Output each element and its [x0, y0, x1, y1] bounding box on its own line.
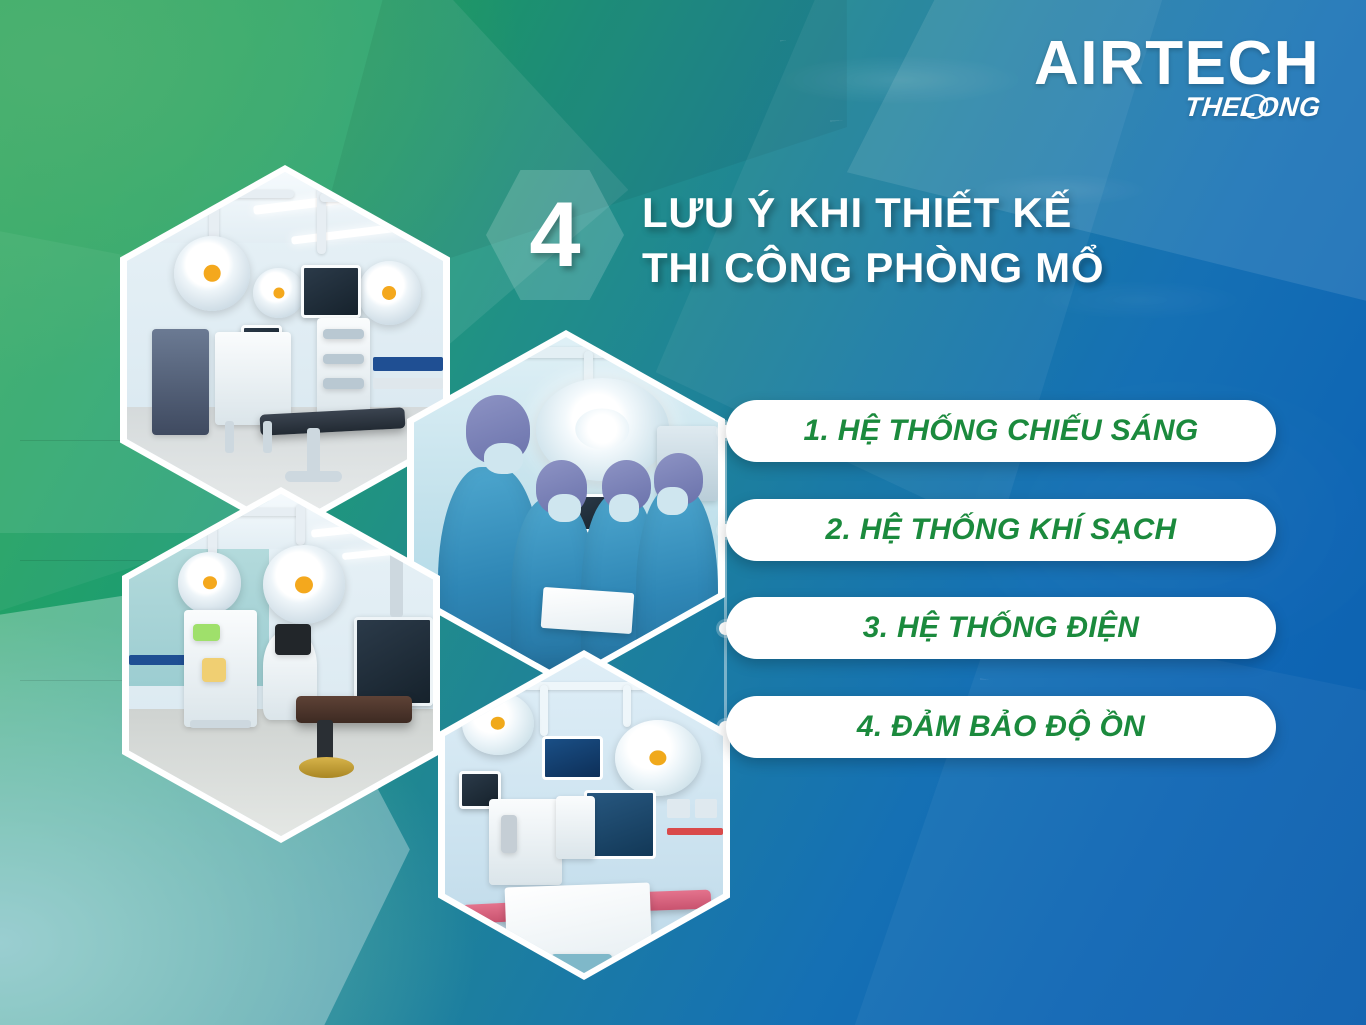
headline-number: 4	[529, 189, 580, 281]
page-title: LƯU Ý KHI THIẾT KẾ THI CÔNG PHÒNG MỔ	[642, 186, 1104, 295]
brand-logo: AIRTECH THELONG	[1034, 34, 1320, 123]
photo-hex-operating-room-equipment	[122, 487, 440, 843]
operating-room-equipment-art	[129, 494, 433, 836]
page-title-line-2: THI CÔNG PHÒNG MỔ	[642, 241, 1104, 296]
photo-hex-surgical-team	[407, 330, 725, 686]
photo-hex-operating-room-led	[438, 650, 730, 980]
photo-hex-operating-room-overview	[120, 165, 450, 535]
list-item-4[interactable]: 4. ĐẢM BẢO ĐỘ ỒN	[726, 696, 1276, 758]
list-item-label: 1. HỆ THỐNG CHIẾU SÁNG	[804, 414, 1199, 448]
surgical-team-art	[414, 337, 718, 679]
operating-room-led-art	[445, 657, 723, 973]
list-item-label: 2. HỆ THỐNG KHÍ SẠCH	[825, 513, 1176, 547]
operating-room-overview-art	[127, 172, 443, 528]
page-title-line-1: LƯU Ý KHI THIẾT KẾ	[642, 186, 1104, 241]
list-item-label: 4. ĐẢM BẢO ĐỘ ỒN	[857, 710, 1145, 744]
brand-name: AIRTECH	[1034, 34, 1320, 94]
brand-subname: THELONG	[1183, 92, 1322, 123]
list-item-3[interactable]: 3. HỆ THỐNG ĐIỆN	[726, 597, 1276, 659]
infographic-poster: AIRTECH THELONG 4 LƯU Ý KHI THIẾT KẾ THI…	[0, 0, 1366, 1025]
list-item-2[interactable]: 2. HỆ THỐNG KHÍ SẠCH	[726, 499, 1276, 561]
list-item-label: 3. HỆ THỐNG ĐIỆN	[863, 611, 1140, 645]
list-item-1[interactable]: 1. HỆ THỐNG CHIẾU SÁNG	[726, 400, 1276, 462]
connector-spine	[724, 420, 727, 732]
